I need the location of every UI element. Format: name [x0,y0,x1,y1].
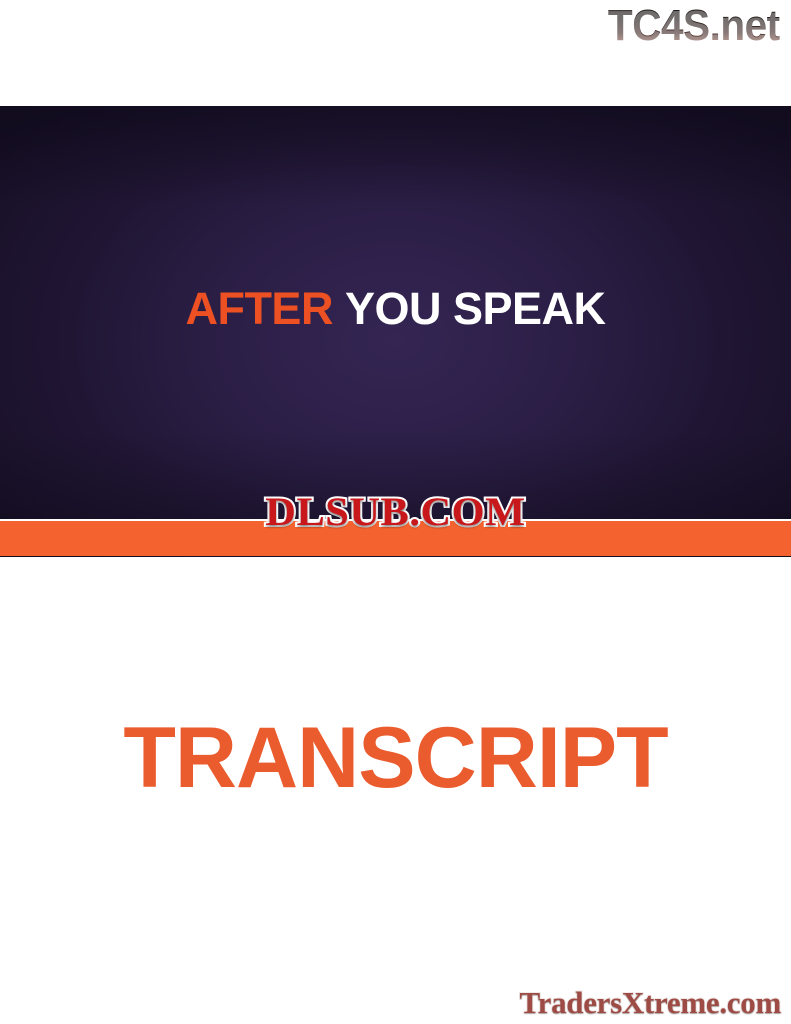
watermark-slide-overlay: DLSUB.COM [0,492,791,532]
watermark-bottom-right: TradersXtreme.com [520,985,781,1021]
slide-headline-accent: AFTER [185,283,333,334]
slide-headline-main: YOU SPEAK [345,283,606,334]
watermark-top-right: TC4S.net [608,2,780,50]
page-title: TRANSCRIPT [0,713,791,803]
slide-headline: AFTER YOU SPEAK [0,286,791,331]
slide-image: AFTER YOU SPEAK YOU EVERYWHERE NW SPEAK … [0,106,791,557]
